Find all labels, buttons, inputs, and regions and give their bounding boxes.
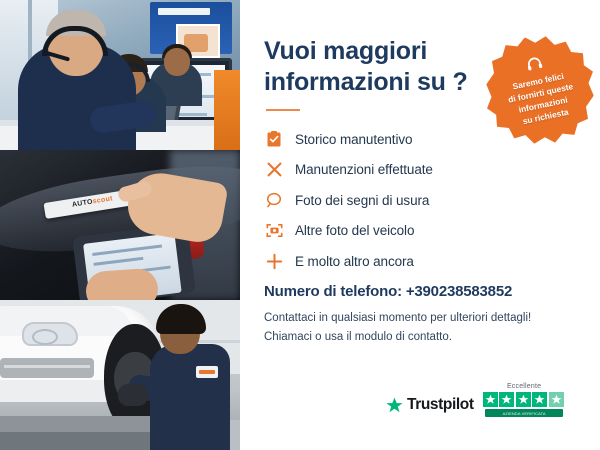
verified-business-badge: AZIENDA VERIFICATA: [485, 409, 563, 417]
star-1: [483, 392, 498, 407]
clipboard-check-icon: [264, 129, 284, 149]
trustpilot-rating[interactable]: Trustpilot Eccellente: [386, 383, 566, 418]
list-item-label: Foto dei segni di usura: [295, 193, 429, 208]
trustpilot-stars: [483, 392, 566, 407]
list-item: Altre foto del veicolo: [264, 221, 578, 241]
headset-icon: [525, 55, 545, 77]
trustpilot-logo: Trustpilot: [386, 396, 474, 417]
call-center-agents-photo: [0, 0, 240, 150]
orange-equipment: [214, 70, 240, 150]
car-bumper: [0, 380, 114, 402]
advertisement-card: AUTOscout: [0, 0, 600, 450]
verified-badge-text: AZIENDA VERIFICATA: [503, 411, 546, 416]
list-item-label: E molto altro ancora: [295, 254, 414, 269]
badge-content: Saremo felici di fornirti queste informa…: [476, 26, 600, 154]
list-item: Manutenzioni effettuate: [264, 160, 578, 180]
callout-badge: Saremo felici di fornirti queste informa…: [486, 36, 594, 144]
trustpilot-score-block: Eccellente: [483, 383, 566, 418]
uniform-logo-patch: [196, 366, 218, 378]
list-item-label: Altre foto del veicolo: [295, 223, 414, 238]
trustpilot-star-icon: [386, 397, 403, 414]
badge-text: Saremo felici di fornirti queste informa…: [505, 70, 580, 130]
trustpilot-rating-label: Eccellente: [507, 383, 541, 390]
star-5: [549, 392, 564, 407]
agent-3-head: [164, 48, 190, 76]
star-4: [532, 392, 547, 407]
magnifier-icon: [264, 190, 284, 210]
list-item-label: Manutenzioni effettuate: [295, 162, 433, 177]
trustpilot-wordmark: Trustpilot: [407, 396, 474, 414]
feature-list: Storico manutentivo Manutenzioni effettu…: [264, 129, 578, 271]
contact-subtext-line-1: Contattaci in qualsiasi momento per ulte…: [264, 309, 578, 328]
list-item: E molto altro ancora: [264, 251, 578, 271]
mechanic-glove: [118, 384, 148, 406]
list-item-label: Storico manutentivo: [295, 132, 412, 147]
paint-gauge-inspection-photo: AUTOscout: [0, 150, 240, 300]
plus-icon: [264, 251, 284, 271]
contact-subtext-line-2: Chiamaci o usa il modulo di contatto.: [264, 328, 578, 347]
car-headlight: [22, 322, 78, 346]
contact-subtext: Contattaci in qualsiasi momento per ulte…: [264, 309, 578, 346]
list-item: Foto dei segni di usura: [264, 190, 578, 210]
lift-platform-base: [0, 432, 150, 450]
car-grille: [0, 358, 94, 378]
content-panel: Vuoi maggiori informazioni su ? Storico …: [240, 0, 600, 450]
title-underline-rule: [266, 109, 300, 111]
mechanic-wheel-inspection-photo: [0, 300, 240, 450]
photo-column: AUTOscout: [0, 0, 240, 450]
wrench-cross-icon: [264, 160, 284, 180]
star-3: [516, 392, 531, 407]
hand-holding-tablet: [85, 268, 160, 300]
phone-number-line[interactable]: Numero di telefono: +390238583852: [264, 283, 578, 300]
star-2: [499, 392, 514, 407]
strip-brand-text: AUTOscout: [72, 195, 114, 208]
camera-frame-icon: [264, 221, 284, 241]
